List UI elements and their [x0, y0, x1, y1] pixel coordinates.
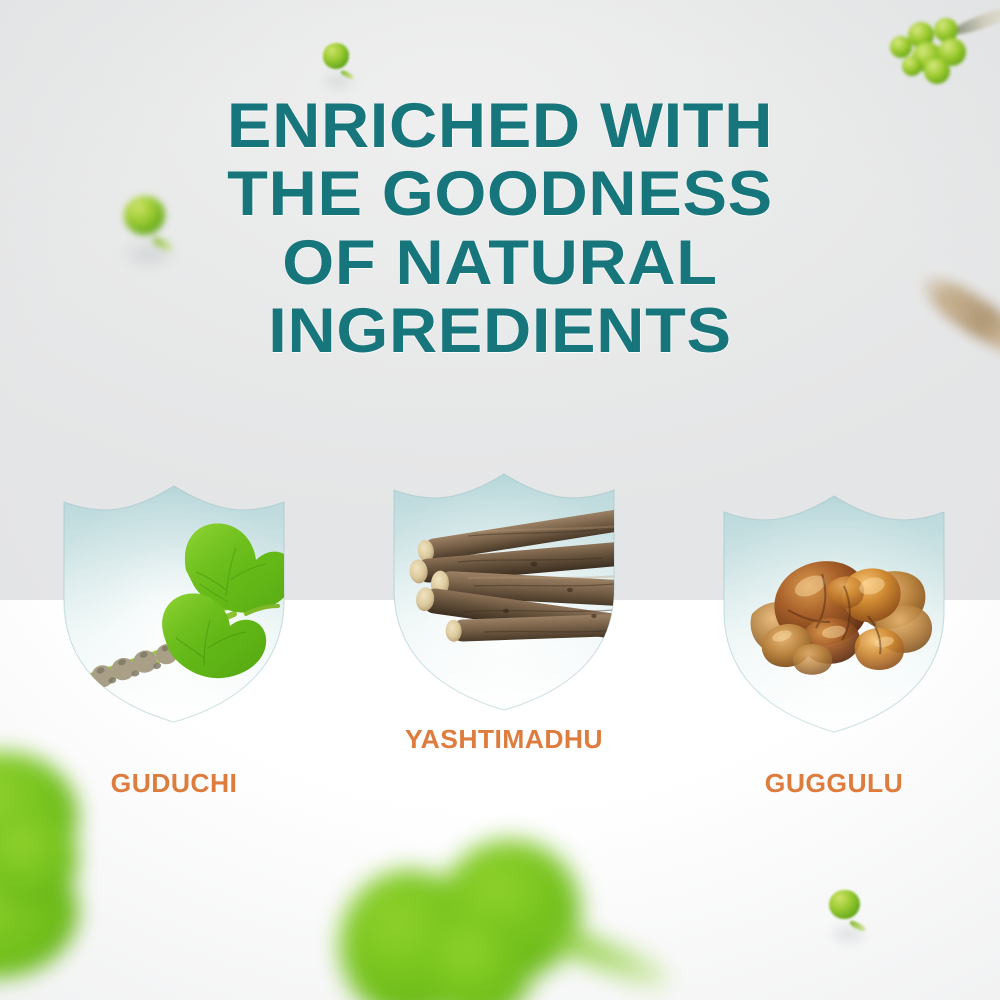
headline-line-1: ENRICHED WITH	[0, 92, 1000, 160]
ingredient-badge-yashtimadhu[interactable]: YASHTIMADHU	[388, 460, 620, 712]
ingredient-banner: ENRICHED WITH THE GOODNESS OF NATURAL IN…	[0, 0, 1000, 1000]
shield-badge-icon	[388, 460, 620, 712]
shield-badge-icon	[58, 472, 290, 724]
ingredient-label-guduchi: GUDUCHI	[41, 768, 306, 799]
headline-line-3: OF NATURAL	[0, 229, 1000, 297]
ingredient-label-yashtimadhu: YASHTIMADHU	[371, 724, 636, 755]
headline-line-2: THE GOODNESS	[0, 160, 1000, 228]
ingredient-label-guggulu: GUGGULU	[701, 768, 966, 799]
shield-badge-icon	[718, 482, 950, 734]
headline-line-4: INGREDIENTS	[0, 297, 1000, 365]
headline: ENRICHED WITH THE GOODNESS OF NATURAL IN…	[0, 92, 1000, 365]
ingredient-badge-guduchi[interactable]: GUDUCHI	[58, 472, 290, 724]
ingredient-badge-guggulu[interactable]: GUGGULU	[718, 482, 950, 734]
